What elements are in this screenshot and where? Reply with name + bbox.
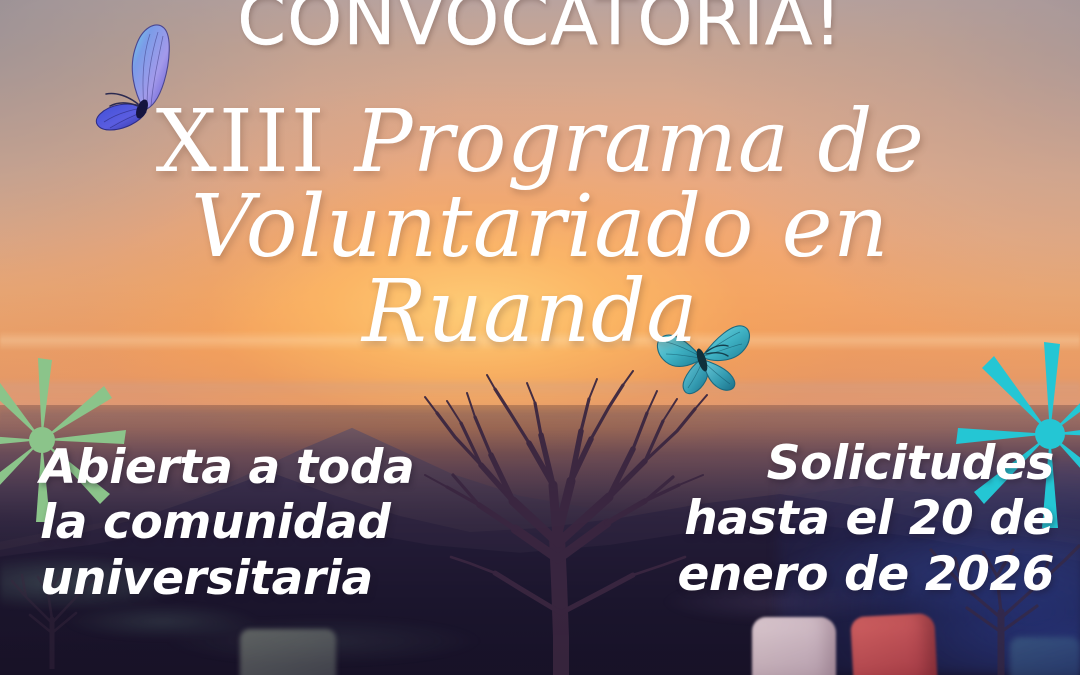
deadline-blurb: Solicitudes hasta el 20 de enero de 2026 — [677, 436, 1054, 602]
deadline-line-3: enero de 2026 — [677, 547, 1054, 602]
main-title: XIII Programa de Voluntariado en Ruanda — [0, 100, 1080, 355]
eligibility-line-3: universitaria — [40, 551, 414, 606]
poster-canvas: CONVOCATORIA! XIII Programa de Voluntari… — [0, 0, 1080, 675]
deadline-line-1: Solicitudes — [677, 436, 1054, 491]
title-line-2: Voluntariado en — [0, 185, 1080, 270]
title-line-1: XIII Programa de — [0, 100, 1080, 185]
title-line-3: Ruanda — [0, 270, 1080, 355]
deadline-line-2: hasta el 20 de — [677, 491, 1054, 546]
kicker-headline: CONVOCATORIA! — [0, 0, 1080, 61]
eligibility-blurb: Abierta a toda la comunidad universitari… — [40, 440, 414, 606]
poster-text-layer: CONVOCATORIA! XIII Programa de Voluntari… — [0, 0, 1080, 675]
eligibility-line-2: la comunidad — [40, 495, 414, 550]
eligibility-line-1: Abierta a toda — [40, 440, 414, 495]
